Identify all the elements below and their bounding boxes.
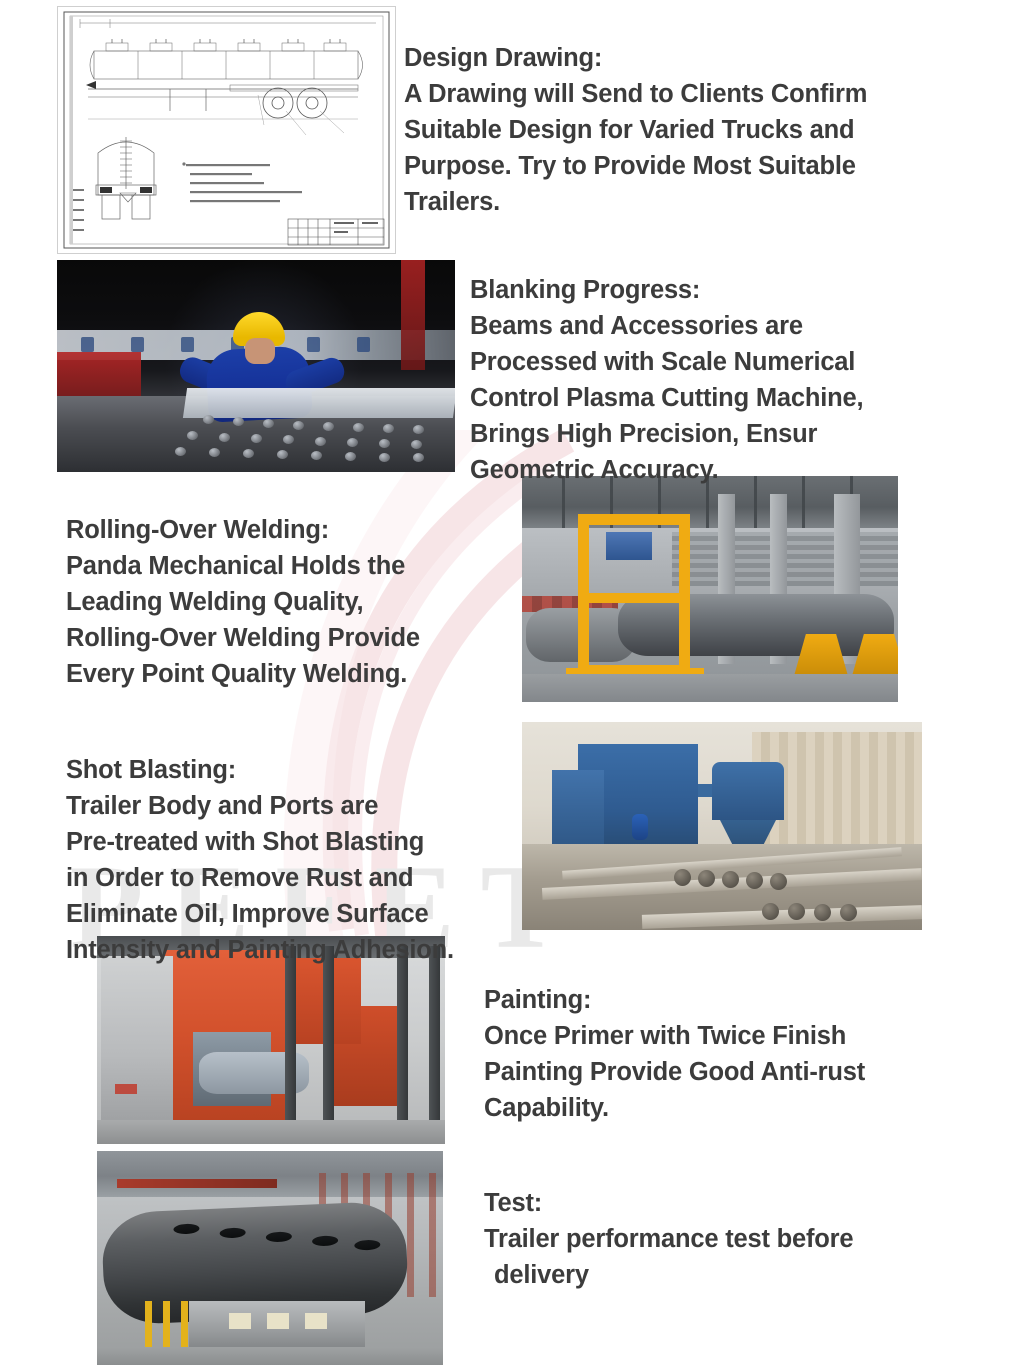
plasma-cutting-photo [57, 260, 455, 472]
rolling-over-welding-line-3: Rolling-Over Welding Provide [66, 620, 420, 656]
shot-blasting-line-1: Trailer Body and Ports are [66, 788, 454, 824]
rolling-over-welding-line-4: Every Point Quality Welding. [66, 656, 420, 692]
blanking-progress-line-1: Beams and Accessories are [470, 308, 863, 344]
shot-blasting-line-5: Intensity and Painting Adhesion. [66, 932, 454, 968]
blanking-progress-heading: Blanking Progress: [470, 272, 863, 308]
test-line-2: delivery [484, 1257, 853, 1293]
rolling-over-welding-line-1: Panda Mechanical Holds the [66, 548, 420, 584]
blanking-progress-text: Blanking Progress: Beams and Accessories… [470, 272, 863, 488]
blanking-progress-line-4: Brings High Precision, Ensur [470, 416, 863, 452]
design-drawing-heading: Design Drawing: [404, 40, 867, 76]
rolling-over-welding-heading: Rolling-Over Welding: [66, 512, 420, 548]
painting-line-1: Once Primer with Twice Finish [484, 1018, 865, 1054]
rolling-over-welding-text: Rolling-Over Welding: Panda Mechanical H… [66, 512, 420, 692]
design-drawing-line-2: Suitable Design for Varied Trucks and [404, 112, 867, 148]
design-drawing-text: Design Drawing: A Drawing will Send to C… [404, 40, 867, 220]
test-text: Test: Trailer performance test before de… [484, 1185, 853, 1293]
design-drawing-line-3: Purpose. Try to Provide Most Suitable [404, 148, 867, 184]
cad-trailer-drawing [57, 6, 396, 254]
shot-blasting-line-2: Pre-treated with Shot Blasting [66, 824, 454, 860]
process-infographic-page: PEFET [0, 0, 1024, 1365]
painting-heading: Painting: [484, 982, 865, 1018]
blanking-progress-line-3: Control Plasma Cutting Machine, [470, 380, 863, 416]
painting-line-3: Capability. [484, 1090, 865, 1126]
tank-test-photo [97, 1151, 443, 1365]
design-drawing-line-4: Trailers. [404, 184, 867, 220]
painting-line-2: Painting Provide Good Anti-rust [484, 1054, 865, 1090]
test-line-1: Trailer performance test before [484, 1221, 853, 1257]
design-drawing-line-1: A Drawing will Send to Clients Confirm [404, 76, 867, 112]
blanking-progress-line-5: Geometric Accuracy. [470, 452, 863, 488]
shot-blasting-photo [522, 722, 922, 930]
shot-blasting-text: Shot Blasting: Trailer Body and Ports ar… [66, 752, 454, 968]
rolling-over-welding-line-2: Leading Welding Quality, [66, 584, 420, 620]
painting-text: Painting: Once Primer with Twice Finish … [484, 982, 865, 1126]
shot-blasting-line-3: in Order to Remove Rust and [66, 860, 454, 896]
cad-drawing-svg [58, 7, 395, 253]
test-heading: Test: [484, 1185, 853, 1221]
shot-blasting-heading: Shot Blasting: [66, 752, 454, 788]
blanking-progress-line-2: Processed with Scale Numerical [470, 344, 863, 380]
shot-blasting-line-4: Eliminate Oil, Improve Surface [66, 896, 454, 932]
rolling-over-welding-photo [522, 476, 898, 702]
